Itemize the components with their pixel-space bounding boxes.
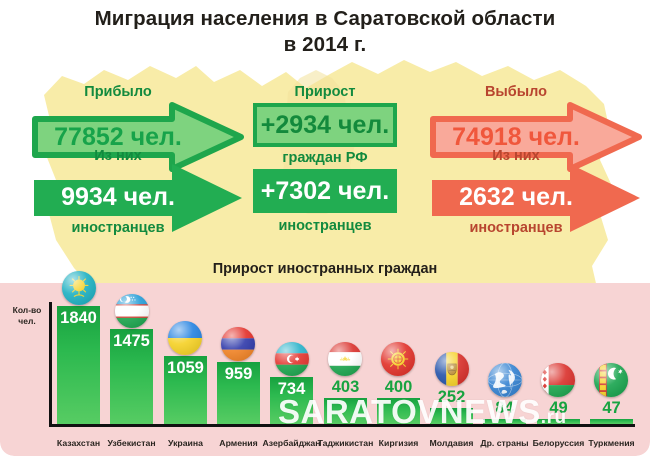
y-axis-label: Кол-во чел. [5, 305, 49, 327]
bar-value-3: 1059 [156, 359, 215, 378]
growth-sub-caption: граждан РФ [247, 150, 403, 166]
belarus-flag [541, 363, 575, 397]
arrived-sub-value: 9934 чел. [32, 183, 204, 212]
growth-value: +2934 чел. [253, 103, 397, 147]
arrived-caption: Прибыло [32, 84, 204, 100]
departed-sub-footer: иностранцев [430, 220, 602, 236]
growth-total-box: +2934 чел. [253, 103, 397, 147]
bar-value-2: 1475 [102, 332, 161, 351]
bar-value-11: 47 [582, 399, 641, 418]
armenia-flag [221, 327, 255, 361]
watermark-text: SARATOVNEWS [278, 393, 541, 430]
growth-foreign-box: +7302 чел. [253, 169, 397, 213]
uzbekistan-flag [115, 294, 149, 328]
globe-icon [488, 363, 522, 397]
flow-departed: Выбыло 74918 чел. Из них 2632 чел. иност… [430, 84, 642, 236]
bar-label-11: Туркмения [578, 438, 645, 448]
infographic-canvas: Миграция населения в Саратовской области… [0, 0, 650, 456]
growth-sub-value: +7302 чел. [253, 169, 397, 213]
growth-sub-footer: иностранцев [247, 218, 403, 234]
bar-value-4: 959 [209, 365, 268, 384]
growth-caption: Прирост [247, 84, 403, 100]
bar-value-1: 1840 [49, 309, 108, 328]
tajikistan-flag [328, 342, 362, 376]
chart-title: Прирост иностранных граждан [0, 261, 650, 277]
watermark: SARATOVNEWS.ru [278, 393, 567, 431]
flow-arrived: Прибыло 77852 чел. Из них 9934 чел. инос… [32, 84, 244, 236]
departed-sub-value: 2632 чел. [430, 183, 602, 212]
azerbaijan-flag [275, 342, 309, 376]
bar-11 [590, 419, 633, 424]
ukraine-flag [168, 321, 202, 355]
turkmenistan-flag [594, 363, 628, 397]
kyrgyzstan-flag [381, 342, 415, 376]
arrived-sub-caption: Из них [32, 148, 204, 164]
departed-caption: Выбыло [430, 84, 602, 100]
watermark-suffix: .ru [541, 407, 567, 428]
page-title: Миграция населения в Саратовской области… [0, 6, 650, 58]
departed-sub-caption: Из них [430, 148, 602, 164]
moldova-flag [435, 352, 469, 386]
y-axis-label-line-2: чел. [5, 316, 49, 327]
arrived-sub-footer: иностранцев [32, 220, 204, 236]
title-line-1: Миграция населения в Саратовской области [95, 7, 556, 30]
flow-growth: Прирост +2934 чел. граждан РФ +7302 чел.… [247, 84, 403, 236]
title-line-2: в 2014 г. [0, 32, 650, 58]
y-axis-label-line-1: Кол-во [5, 305, 49, 316]
